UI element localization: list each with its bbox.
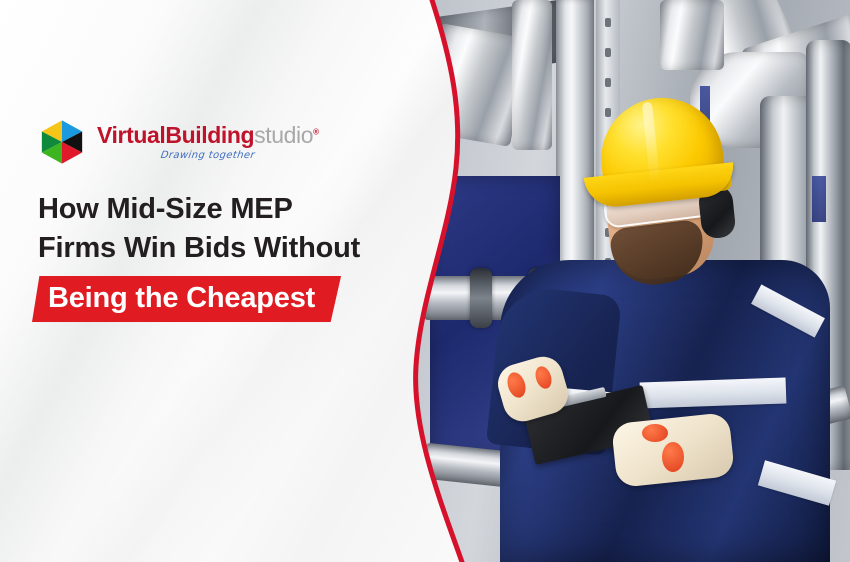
logo-wordmark-block: VirtualBuildingstudio® Drawing together [97,118,319,161]
page-title: How Mid-Size MEP Firms Win Bids Without … [38,190,418,322]
content-block: VirtualBuildingstudio® Drawing together … [38,118,418,322]
registered-mark-icon: ® [313,127,319,136]
logo-name-bold: VirtualBuilding [97,122,254,148]
brand-logo[interactable]: VirtualBuildingstudio® Drawing together [38,118,418,166]
reflective-stripe-right [640,377,787,408]
glove-right-grip-a [642,424,668,442]
logo-wordmark: VirtualBuildingstudio® [97,124,319,147]
headline-line-1: How Mid-Size MEP [38,190,418,229]
headline-line-3: Being the Cheapest [32,276,341,322]
blog-banner: VirtualBuildingstudio® Drawing together … [0,0,850,562]
headline-line-2: Firms Win Bids Without [38,229,418,268]
hexagon-logo-icon [38,118,86,166]
logo-tagline: Drawing together [96,150,319,161]
headline-highlight-banner: Being the Cheapest [32,276,341,322]
glove-right-grip-b [662,442,684,472]
logo-name-light: studio [254,122,313,148]
